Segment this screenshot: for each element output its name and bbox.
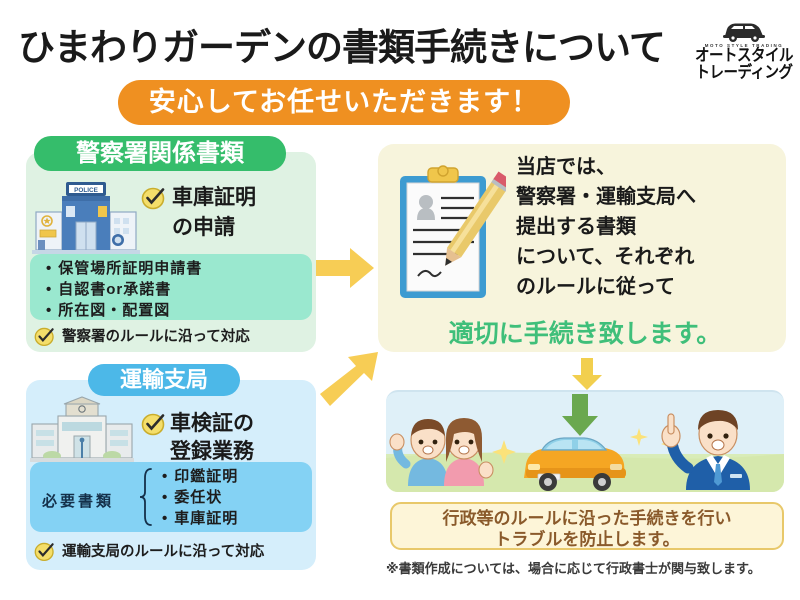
prevention-line-1: 行政等のルールに沿った手続きを行い [392,508,782,529]
assurance-banner: 安心してお任せいただきます！ [118,80,570,125]
check-circle-icon [141,412,167,436]
list-item: 所在図・配置図 [46,300,202,321]
explanation-highlight: 適切に手続き致します。 [396,314,774,350]
government-building-icon [30,396,134,466]
explanation-line-2: 警察署・運輸支局へ [516,182,696,212]
bureau-headline-1: 車検証の [170,410,254,437]
explanation-line-1: 当店では、 [516,152,696,182]
check-circle-icon [141,186,167,210]
check-circle-icon [34,326,56,347]
police-headline-2: の申請 [172,214,235,241]
clipboard-pencil-icon [396,164,506,304]
list-item: 委任状 [162,487,238,508]
car-icon [721,20,767,42]
arrow-right-icon [314,245,376,296]
explanation-line-5: のルールに従って [516,272,696,302]
arrow-up-right-icon [316,348,386,415]
brace-icon [138,468,154,526]
required-documents-label: 必要書類 [42,490,114,511]
check-circle-icon [34,541,56,562]
bureau-card-badge: 運輸支局 [88,364,240,396]
brand-logo: MOTO STYLE TRADING オートスタイル トレーディング [692,20,796,90]
bureau-headline-2: 登録業務 [170,438,254,465]
bureau-footer-text: 運輸支局のルールに沿って対応 [62,542,264,562]
police-footer-text: 警察署のルールに沿って対応 [62,327,250,347]
list-item: 印鑑証明 [162,466,238,487]
police-station-icon: POLICE [32,178,140,260]
police-bullet-list: 保管場所証明申請書 自認書or承諾書 所在図・配置図 [46,258,202,321]
infographic-root: ひまわりガーデンの書類手続きについて MOTO STYLE TRADING オー… [0,0,800,600]
svg-text:POLICE: POLICE [74,187,99,194]
logo-line-2: トレーディング [692,64,796,83]
customer-illustration [386,390,784,492]
police-headline-1: 車庫証明 [172,184,256,211]
explanation-line-4: について、それぞれ [516,242,696,272]
page-title: ひまわりガーデンの書類手続きについて [18,22,678,74]
list-item: 保管場所証明申請書 [46,258,202,279]
prevention-banner: 行政等のルールに沿った手続きを行い トラブルを防止します。 [390,502,784,550]
list-item: 自認書or承諾書 [46,279,202,300]
bureau-bullet-list: 印鑑証明 委任状 車庫証明 [162,466,238,529]
list-item: 車庫証明 [162,508,238,529]
footnote-text: ※書類作成については、場合に応じて行政書士が関与致します。 [386,558,790,577]
explanation-lines: 当店では、 警察署・運輸支局へ 提出する書類 について、それぞれ のルールに従っ… [516,152,696,302]
explanation-line-3: 提出する書類 [516,212,696,242]
prevention-line-2: トラブルを防止します。 [392,529,782,550]
police-card-badge: 警察署関係書類 [34,136,286,171]
